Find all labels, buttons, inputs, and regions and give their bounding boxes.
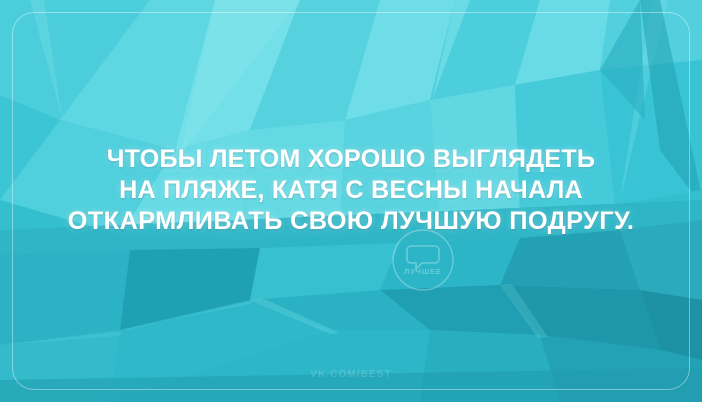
caption-line-2: НА ПЛЯЖЕ, КАТЯ С ВЕСНЫ НАЧАЛА <box>0 175 702 206</box>
caption-text-block: ЧТОБЫ ЛЕТОМ ХОРОШО ВЫГЛЯДЕТЬ НА ПЛЯЖЕ, К… <box>0 144 702 237</box>
site-watermark: VK.COM/BEST <box>0 369 702 380</box>
caption-line-1: ЧТОБЫ ЛЕТОМ ХОРОШО ВЫГЛЯДЕТЬ <box>0 144 702 175</box>
luchshee-logo-watermark: ЛУЧШЕЕ <box>391 228 455 292</box>
speech-bubble-icon <box>407 246 439 269</box>
logo-label: ЛУЧШЕЕ <box>404 267 441 276</box>
caption-line-3: ОТКАРМЛИВАТЬ СВОЮ ЛУЧШУЮ ПОДРУГУ. <box>0 206 702 237</box>
meme-card: ЛУЧШЕЕ ЧТОБЫ ЛЕТОМ ХОРОШО ВЫГЛЯДЕТЬ НА П… <box>0 0 702 402</box>
